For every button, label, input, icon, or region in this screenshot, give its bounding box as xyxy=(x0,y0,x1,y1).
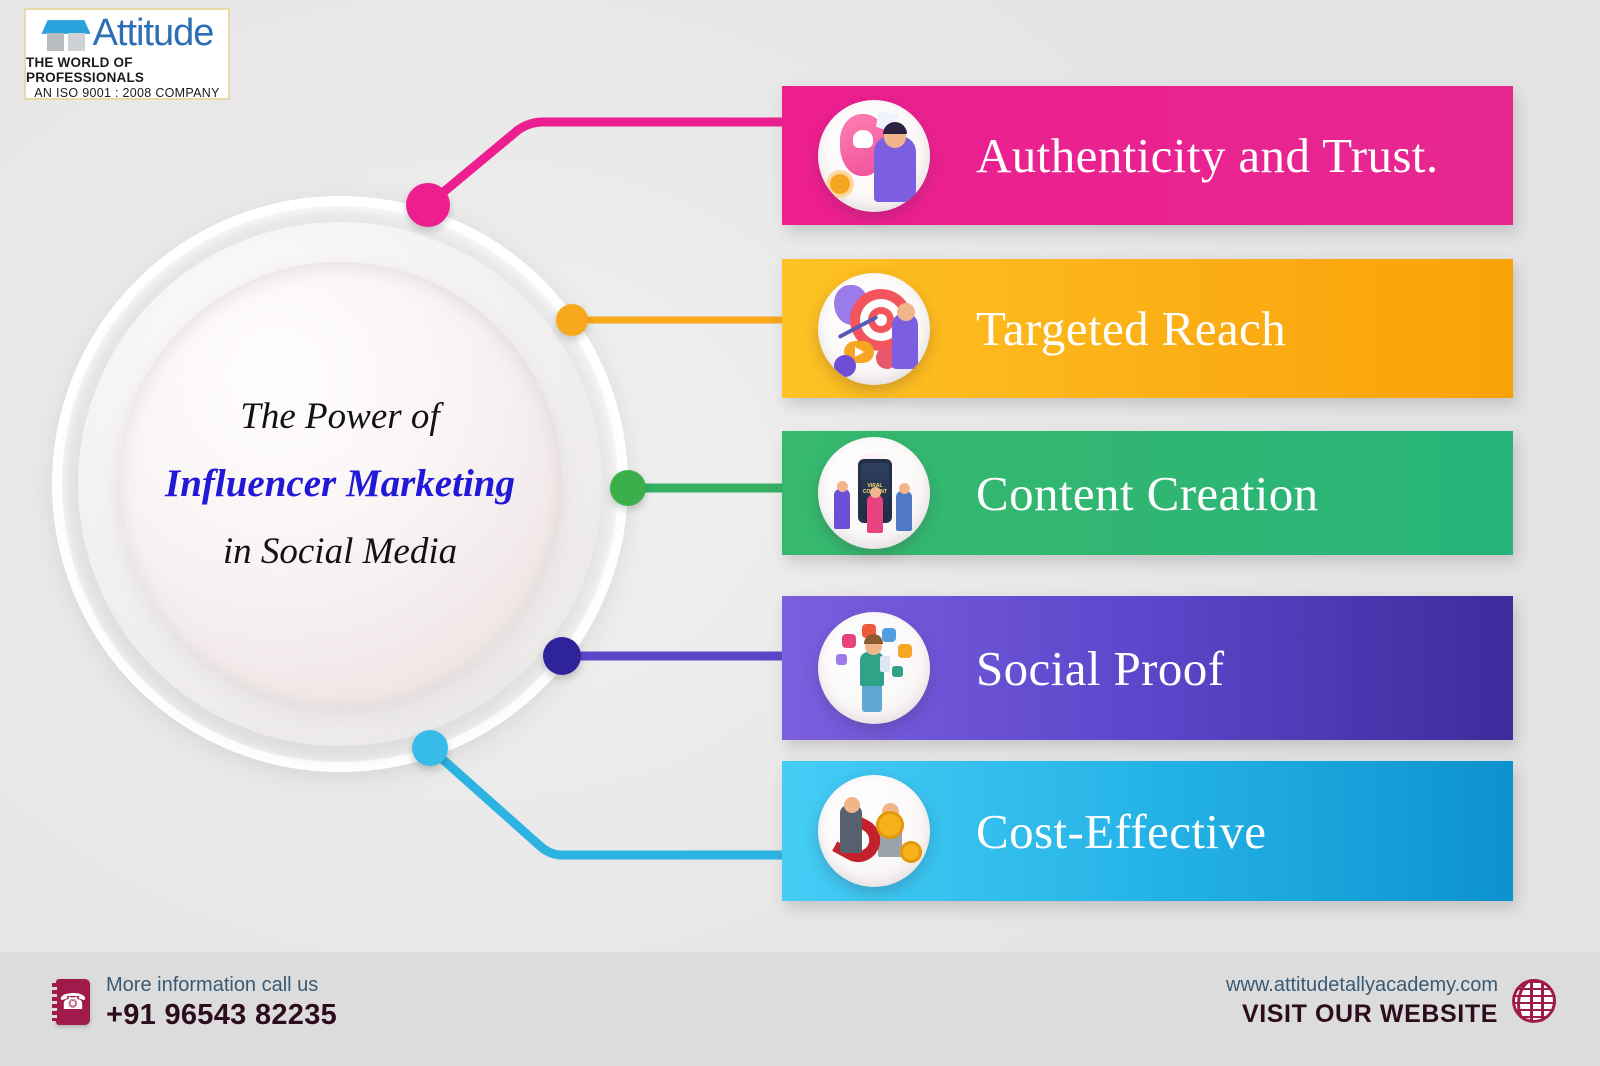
center-line-3: in Social Media xyxy=(223,532,457,572)
footer-bar: More information call us +91 96543 82235… xyxy=(0,952,1600,1066)
feature-label: Authenticity and Trust. xyxy=(976,131,1438,180)
connector-dot-2 xyxy=(556,304,588,336)
visit-website-label: VISIT OUR WEBSITE xyxy=(1226,998,1498,1030)
feature-bar-authenticity[interactable]: Authenticity and Trust. xyxy=(782,86,1513,225)
center-line-2: Influencer Marketing xyxy=(165,461,515,506)
company-logo: Attitude THE WORLD OF PROFESSIONALS AN I… xyxy=(24,8,230,100)
logo-certification: AN ISO 9001 : 2008 COMPANY xyxy=(34,86,219,100)
feature-label: Content Creation xyxy=(976,469,1319,518)
call-label: More information call us xyxy=(106,972,337,998)
center-line-1: The Power of xyxy=(240,397,439,437)
target-dartboard-icon xyxy=(818,273,930,385)
feature-label: Cost-Effective xyxy=(976,807,1266,856)
feature-bar-content-creation[interactable]: VIRAL CONTENT Content Creation xyxy=(782,431,1513,555)
feature-bar-targeted-reach[interactable]: Targeted Reach xyxy=(782,259,1513,398)
globe-icon xyxy=(1512,979,1556,1023)
shield-heart-trust-icon xyxy=(818,100,930,212)
feature-bar-social-proof[interactable]: Social Proof xyxy=(782,596,1513,740)
phone-number[interactable]: +91 96543 82235 xyxy=(106,998,337,1032)
contact-block: More information call us +91 96543 82235 xyxy=(56,972,337,1032)
cube-logo-icon xyxy=(43,13,89,53)
connector-dot-3 xyxy=(610,470,646,506)
logo-wordmark-row: Attitude xyxy=(41,13,214,53)
feature-label: Social Proof xyxy=(976,644,1224,693)
infographic-poster: Attitude THE WORLD OF PROFESSIONALS AN I… xyxy=(0,0,1600,1066)
connector-dot-1 xyxy=(406,183,450,227)
connector-dot-4 xyxy=(543,637,581,675)
social-media-person-icon xyxy=(818,612,930,724)
connector-dot-5 xyxy=(412,730,448,766)
website-url[interactable]: www.attitudetallyacademy.com xyxy=(1226,972,1498,998)
magnet-coins-icon xyxy=(818,775,930,887)
logo-brand-text: Attitude xyxy=(93,13,214,53)
feature-label: Targeted Reach xyxy=(976,304,1286,353)
phone-book-icon xyxy=(56,979,90,1025)
logo-tagline: THE WORLD OF PROFESSIONALS xyxy=(26,55,228,85)
feature-bar-cost-effective[interactable]: Cost-Effective xyxy=(782,761,1513,901)
website-block: www.attitudetallyacademy.com VISIT OUR W… xyxy=(1226,972,1556,1030)
viral-content-phone-icon: VIRAL CONTENT xyxy=(818,437,930,549)
center-title-circle: The Power of Influencer Marketing in Soc… xyxy=(118,262,562,706)
